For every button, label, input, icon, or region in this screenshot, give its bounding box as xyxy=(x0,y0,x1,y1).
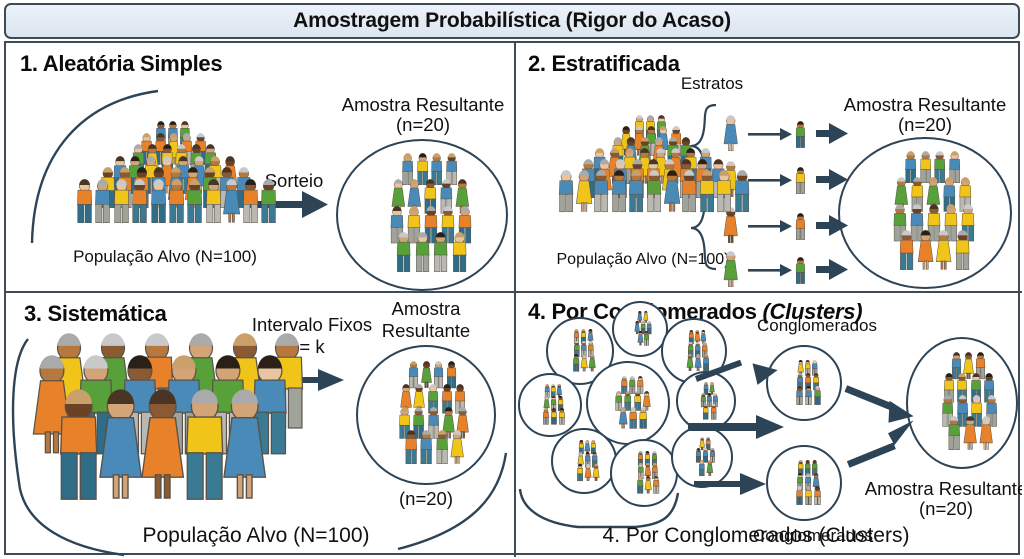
person-figure-icon xyxy=(897,230,916,272)
q1-sample-count-top: (n=20) xyxy=(332,115,514,135)
person-figure-icon xyxy=(431,232,450,274)
quadrant-sistematica: 3. Sistemática xyxy=(6,293,514,557)
person-figure-icon xyxy=(258,179,279,225)
person-figure-icon xyxy=(434,430,450,466)
page-title-bar: Amostragem Probabilística (Rigor do Acas… xyxy=(4,3,1020,39)
quadrant-por-conglomerados: 4. Por Conglomerados (Clusters) xyxy=(516,293,1022,557)
q3-sample-label-line2: Resultante xyxy=(346,321,506,341)
q3-sample-label-line1: Amostra xyxy=(346,299,506,319)
person-figure-icon xyxy=(218,389,271,505)
person-figure-icon xyxy=(732,170,752,214)
person-figure-icon xyxy=(449,430,465,466)
person-figure-icon xyxy=(934,230,953,272)
person-figure-icon xyxy=(394,232,413,274)
person-figure-icon xyxy=(813,486,822,506)
q4-footer-label: 4. Por Conglomerados (Clusters) xyxy=(546,525,966,548)
person-figure-icon xyxy=(450,232,469,274)
q3-population-label: População Alvo (N=100) xyxy=(106,525,406,548)
q2-sample-label-top: Amostra Resultante xyxy=(832,95,1018,115)
infographic-root: Amostragem Probabilística (Rigor do Acas… xyxy=(0,0,1024,559)
person-figure-icon xyxy=(418,430,434,466)
quadrant-grid: 1. Aleatória Simples xyxy=(4,41,1020,555)
person-figure-icon xyxy=(978,416,994,452)
q2-sample-count-top: (n=20) xyxy=(832,115,1018,135)
person-figure-icon xyxy=(413,232,432,274)
q1-sample-label-top: Amostra Resultante xyxy=(332,95,514,115)
quadrant-aleatoria-simples: 1. Aleatória Simples xyxy=(6,43,514,291)
person-figure-icon xyxy=(403,430,419,466)
q4-sample-count: (n=20) xyxy=(852,499,1022,519)
quadrant-estratificada: 2. Estratificada xyxy=(516,43,1022,291)
person-figure-icon xyxy=(916,230,935,272)
page-title: Amostragem Probabilística (Rigor do Acas… xyxy=(293,9,731,33)
person-figure-icon xyxy=(946,416,962,452)
q3-sample-count: (n=20) xyxy=(346,489,506,509)
person-figure-icon xyxy=(813,386,822,406)
person-figure-icon xyxy=(962,416,978,452)
person-figure-icon xyxy=(953,230,972,272)
q4-sample-label: Amostra Resultante xyxy=(852,479,1022,499)
